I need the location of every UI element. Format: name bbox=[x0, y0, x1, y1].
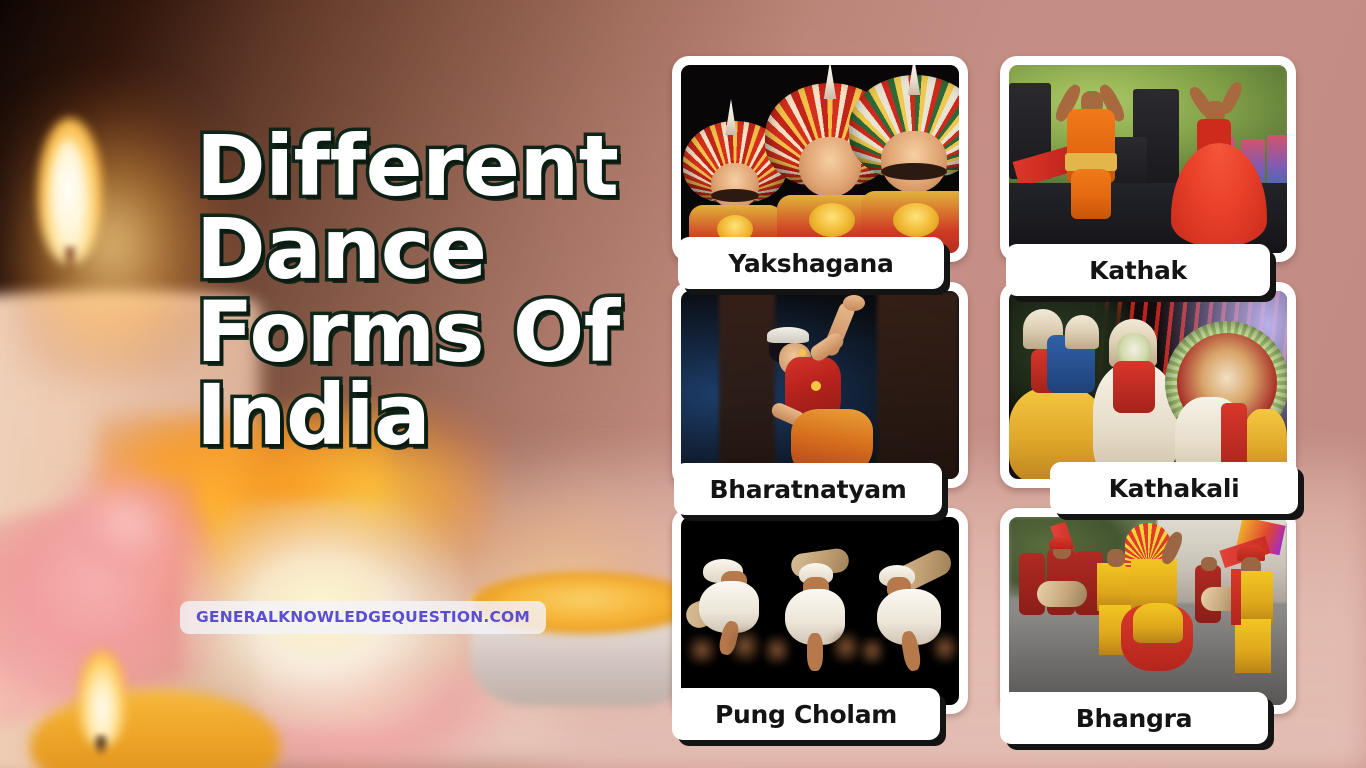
dance-card-label-kathakali: Kathakali bbox=[1050, 462, 1298, 514]
page-title-line-2: Dance bbox=[196, 208, 696, 291]
dance-label-text: Pung Cholam bbox=[715, 700, 897, 729]
dance-label-text: Bharatnatyam bbox=[709, 475, 906, 504]
dance-card-yakshagana[interactable]: Yakshagana bbox=[672, 56, 968, 262]
page-title: Different Dance Forms Of India bbox=[196, 125, 696, 458]
kathakali-photo bbox=[1009, 291, 1287, 479]
site-watermark: GENERALKNOWLEDGEQUESTION.COM bbox=[180, 601, 546, 634]
pung-cholam-photo bbox=[681, 517, 959, 705]
dance-card-pung-cholam[interactable]: Pung Cholam bbox=[672, 508, 968, 714]
dance-label-text: Bhangra bbox=[1076, 704, 1193, 733]
bhangra-photo bbox=[1009, 517, 1287, 705]
dance-card-label-pung-cholam: Pung Cholam bbox=[672, 688, 940, 740]
dance-card-label-yakshagana: Yakshagana bbox=[678, 237, 944, 289]
dance-forms-grid: Yakshagana bbox=[672, 56, 1296, 732]
dance-card-bharatnatyam[interactable]: Bharatnatyam bbox=[672, 282, 968, 488]
dance-label-text: Kathak bbox=[1089, 256, 1187, 285]
page-title-line-4: India bbox=[196, 374, 696, 457]
dance-card-kathakali[interactable]: Kathakali bbox=[1000, 282, 1296, 488]
dance-card-label-bharatnatyam: Bharatnatyam bbox=[674, 463, 942, 515]
page-title-line-3: Forms Of bbox=[196, 291, 696, 374]
dance-card-kathak[interactable]: Kathak bbox=[1000, 56, 1296, 262]
dance-label-text: Yakshagana bbox=[728, 249, 893, 278]
yakshagana-photo bbox=[681, 65, 959, 253]
dance-card-label-kathak: Kathak bbox=[1006, 244, 1270, 296]
kathak-photo bbox=[1009, 65, 1287, 253]
page-title-line-1: Different bbox=[196, 125, 696, 208]
bharatnatyam-photo bbox=[681, 291, 959, 479]
dance-card-label-bhangra: Bhangra bbox=[1000, 692, 1268, 744]
dance-label-text: Kathakali bbox=[1109, 474, 1240, 503]
infographic-poster: Different Dance Forms Of India GENERALKN… bbox=[0, 0, 1366, 768]
dance-card-bhangra[interactable]: Bhangra bbox=[1000, 508, 1296, 714]
